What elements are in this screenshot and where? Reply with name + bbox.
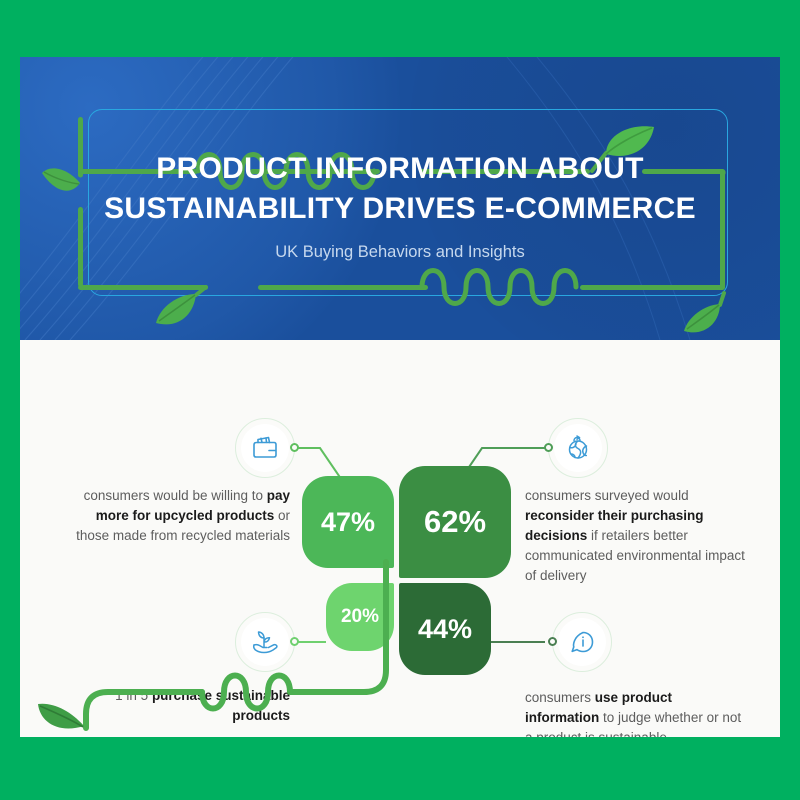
header-banner: PRODUCT INFORMATION ABOUT SUSTAINABILITY… <box>20 57 780 340</box>
leaf-bottom-left <box>156 287 206 324</box>
page-title-line-1: PRODUCT INFORMATION ABOUT <box>20 149 780 189</box>
statistics-section: 47% 62% 20% 44% <box>20 340 780 737</box>
page-subtitle: UK Buying Behaviors and Insights <box>20 243 780 262</box>
infographic-card: PRODUCT INFORMATION ABOUT SUSTAINABILITY… <box>20 57 780 737</box>
vine-leaf <box>38 704 84 729</box>
squiggle-bottom <box>422 271 576 304</box>
footer-vine-decoration <box>20 340 780 737</box>
header-title-block: PRODUCT INFORMATION ABOUT SUSTAINABILITY… <box>20 149 780 262</box>
page-title-line-2: SUSTAINABILITY DRIVES E-COMMERCE <box>20 189 780 229</box>
vine-loops <box>202 676 290 709</box>
vine-stem-left <box>86 692 202 728</box>
vine-stem-right <box>290 562 386 692</box>
leaf-bottom-right <box>684 293 724 332</box>
infographic-canvas: PRODUCT INFORMATION ABOUT SUSTAINABILITY… <box>0 0 800 800</box>
